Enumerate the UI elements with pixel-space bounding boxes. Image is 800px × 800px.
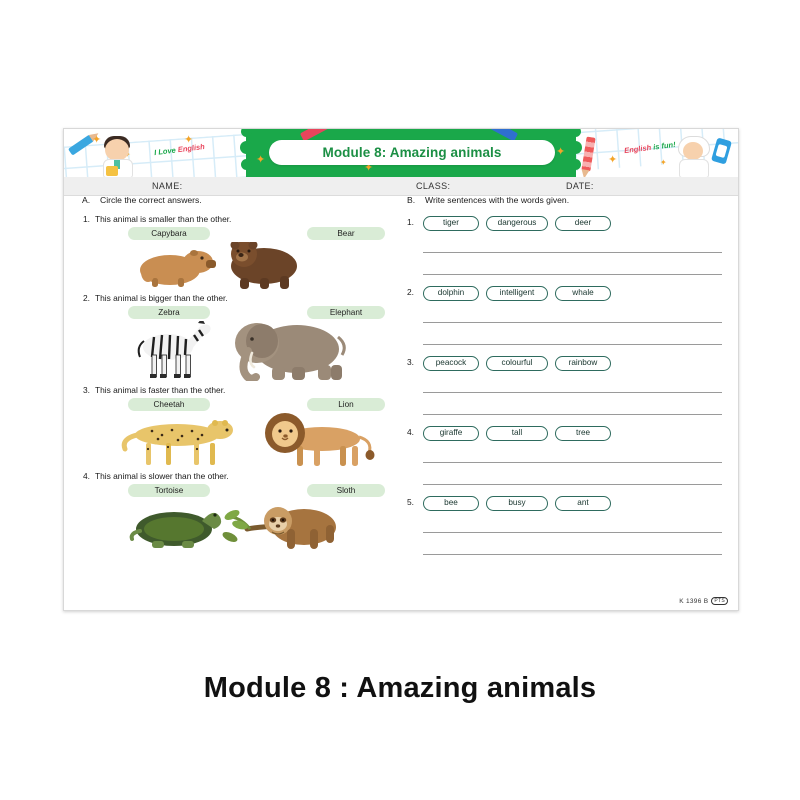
answer-options-row: Capybara Bear [82, 227, 407, 240]
publisher-badge-icon: PTS [711, 597, 728, 605]
student-info-strip: NAME: CLASS: DATE: [64, 177, 738, 196]
star-icon: ✦ [556, 147, 565, 158]
answer-option-left[interactable]: Tortoise [128, 484, 210, 497]
worksheet-card: ✦ ✦ ✦ I Love English ✦ ✦ ✦ Module 8: Ama… [63, 128, 739, 611]
word-chip[interactable]: tree [555, 426, 611, 441]
item-number: 5. [407, 497, 414, 507]
zebra-figure [139, 321, 213, 378]
animal-illustration-zebra-elephant [82, 321, 407, 381]
word-chip[interactable]: ant [555, 496, 611, 511]
section-b-item: 2. dolphin intelligent whale [407, 286, 722, 345]
question-label: This animal is faster than the other. [95, 385, 225, 395]
question-label: This animal is bigger than the other. [95, 293, 228, 303]
section-b-item: 4. giraffe tall tree [407, 426, 722, 485]
question-text: 2. This animal is bigger than the other. [82, 293, 407, 303]
word-chip[interactable]: dolphin [423, 286, 479, 301]
answer-options-row: Tortoise Sloth [82, 484, 407, 497]
section-a-letter: A. [82, 195, 100, 205]
word-chip[interactable]: dangerous [486, 216, 548, 231]
word-chip-group: tiger dangerous deer [423, 216, 722, 231]
star-icon: ✦ [660, 159, 667, 167]
section-a-item: 3. This animal is faster than the other.… [82, 385, 407, 467]
answer-options-row: Cheetah Lion [82, 398, 407, 411]
writing-line[interactable] [423, 463, 722, 485]
writing-line[interactable] [423, 511, 722, 533]
word-chip[interactable]: tall [486, 426, 548, 441]
name-label: NAME: [152, 181, 183, 191]
section-a: A. Circle the correct answers. 1. This a… [82, 195, 407, 551]
word-chip-group: bee busy ant [423, 496, 722, 511]
item-number: 3. [407, 357, 414, 367]
worksheet-header: ✦ ✦ ✦ I Love English ✦ ✦ ✦ Module 8: Ama… [64, 129, 738, 177]
module-title-text: Module 8: Amazing animals [322, 145, 501, 160]
question-text: 4. This animal is slower than the other. [82, 471, 407, 481]
section-b-item: 3. peacock colourful rainbow [407, 356, 722, 415]
section-b-letter: B. [407, 195, 425, 205]
section-b-heading: B. Write sentences with the words given. [407, 195, 722, 205]
word-chip-group: peacock colourful rainbow [423, 356, 722, 371]
girl-character-avatar [676, 136, 710, 176]
animal-illustration-tortoise-sloth [82, 499, 407, 551]
footer-code-text: K 1396 B [679, 598, 708, 605]
class-label: CLASS: [416, 181, 450, 191]
date-label: DATE: [566, 181, 594, 191]
section-a-item: 2. This animal is bigger than the other.… [82, 293, 407, 381]
star-icon: ✦ [608, 155, 617, 166]
word-chip[interactable]: rainbow [555, 356, 611, 371]
writing-line[interactable] [423, 253, 722, 275]
elephant-figure [235, 323, 344, 380]
word-chip-group: giraffe tall tree [423, 426, 722, 441]
question-label: This animal is slower than the other. [95, 471, 229, 481]
bear-figure [231, 242, 298, 289]
word-chip[interactable]: colourful [486, 356, 548, 371]
animal-illustration-capybara-bear [82, 242, 407, 289]
writing-line[interactable] [423, 231, 722, 253]
section-a-heading: A. Circle the correct answers. [82, 195, 407, 205]
question-text: 1. This animal is smaller than the other… [82, 214, 407, 224]
animal-illustration-cheetah-lion [82, 413, 407, 467]
word-chip[interactable]: whale [555, 286, 611, 301]
question-label: This animal is smaller than the other. [95, 214, 231, 224]
word-chip[interactable]: giraffe [423, 426, 479, 441]
section-a-item: 1. This animal is smaller than the other… [82, 214, 407, 289]
module-title-banner: Module 8: Amazing animals [269, 140, 555, 165]
cheetah-figure [124, 420, 233, 465]
writing-line[interactable] [423, 371, 722, 393]
tortoise-figure [132, 512, 221, 548]
writing-line[interactable] [423, 441, 722, 463]
section-b-item: 1. tiger dangerous deer [407, 216, 722, 275]
question-number: 2. [83, 293, 90, 303]
word-chip-group: dolphin intelligent whale [423, 286, 722, 301]
writing-line[interactable] [423, 533, 722, 555]
question-number: 3. [83, 385, 90, 395]
answer-option-left[interactable]: Cheetah [128, 398, 210, 411]
answer-option-right[interactable]: Elephant [307, 306, 385, 319]
writing-line[interactable] [423, 393, 722, 415]
item-number: 2. [407, 287, 414, 297]
answer-option-right[interactable]: Bear [307, 227, 385, 240]
section-b: B. Write sentences with the words given.… [407, 195, 722, 555]
answer-option-left[interactable]: Capybara [128, 227, 210, 240]
section-b-instruction: Write sentences with the words given. [425, 195, 569, 205]
answer-option-left[interactable]: Zebra [128, 306, 210, 319]
answer-option-right[interactable]: Sloth [307, 484, 385, 497]
answer-option-right[interactable]: Lion [307, 398, 385, 411]
page-caption: Module 8 : Amazing animals [0, 672, 800, 705]
question-number: 1. [83, 214, 90, 224]
section-a-item: 4. This animal is slower than the other.… [82, 471, 407, 551]
section-a-instruction: Circle the correct answers. [100, 195, 202, 205]
word-chip[interactable]: intelligent [486, 286, 548, 301]
word-chip[interactable]: peacock [423, 356, 479, 371]
section-b-item: 5. bee busy ant [407, 496, 722, 555]
item-number: 1. [407, 217, 414, 227]
star-icon: ✦ [256, 155, 265, 166]
word-chip[interactable]: busy [486, 496, 548, 511]
word-chip[interactable]: bee [423, 496, 479, 511]
footer-code: K 1396 B PTS [679, 597, 728, 605]
answer-options-row: Zebra Elephant [82, 306, 407, 319]
sloth-figure [221, 507, 336, 549]
question-number: 4. [83, 471, 90, 481]
word-chip[interactable]: deer [555, 216, 611, 231]
worksheet-body: A. Circle the correct answers. 1. This a… [64, 195, 738, 610]
item-number: 4. [407, 427, 414, 437]
boy-character-avatar [100, 136, 134, 176]
lion-figure [265, 413, 375, 466]
capybara-figure [140, 250, 216, 287]
question-text: 3. This animal is faster than the other. [82, 385, 407, 395]
word-chip[interactable]: tiger [423, 216, 479, 231]
writing-line[interactable] [423, 301, 722, 323]
writing-line[interactable] [423, 323, 722, 345]
